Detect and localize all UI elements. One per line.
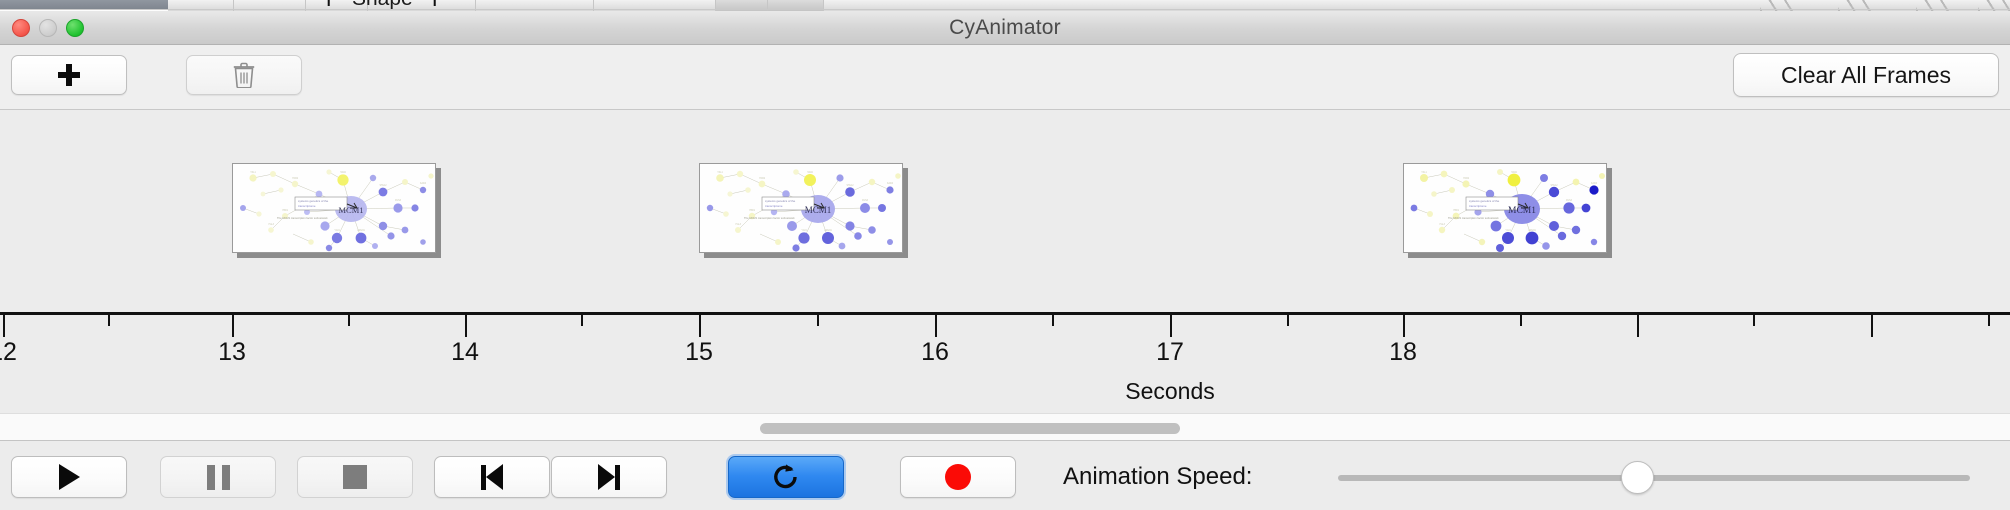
ruler-tick-major	[1170, 315, 1172, 337]
ruler-tick-major	[1637, 315, 1639, 337]
svg-text:MCM1: MCM1	[338, 205, 363, 215]
svg-text:The MCM1 transcription factor: The MCM1 transcription factor subnetwork	[1448, 216, 1499, 220]
svg-text:FUS3: FUS3	[395, 200, 402, 202]
svg-text:KAR4: KAR4	[887, 182, 894, 185]
pause-icon	[207, 465, 230, 490]
ruler-tick-major	[232, 315, 234, 337]
svg-text:STE12: STE12	[1550, 185, 1558, 187]
background-window-strip: T T Shape	[0, 0, 2010, 11]
ruler-tick-minor	[108, 315, 110, 326]
svg-text:transcriptome: transcriptome	[298, 204, 316, 208]
trash-icon	[233, 62, 255, 88]
record-button[interactable]	[900, 456, 1016, 498]
svg-text:systems genetics of the: systems genetics of the	[298, 199, 329, 203]
ruler-tick-major	[1403, 315, 1405, 337]
timeline-scrollbar-thumb[interactable]	[760, 423, 1180, 434]
svg-text:YJL9: YJL9	[334, 230, 340, 232]
svg-text:ARG81: ARG81	[1528, 229, 1536, 232]
svg-text:YBR1: YBR1	[749, 210, 756, 212]
stop-icon	[343, 465, 367, 489]
play-icon	[59, 464, 80, 490]
ruler-label: 16	[921, 338, 949, 367]
svg-text:KAR4: KAR4	[420, 182, 427, 185]
skip-start-icon	[481, 464, 503, 490]
svg-text:YGL3: YGL3	[735, 224, 742, 226]
svg-text:STE12: STE12	[379, 185, 387, 187]
svg-text:ARG81: ARG81	[357, 229, 365, 232]
loop-button[interactable]	[728, 456, 844, 498]
ruler-label: 14	[451, 338, 479, 367]
ruler-label: 12	[0, 338, 17, 367]
svg-text:KAR4: KAR4	[1591, 182, 1598, 185]
ruler-tick-major	[465, 315, 467, 337]
svg-text:SWI4: SWI4	[807, 172, 813, 174]
svg-text:transcriptome: transcriptome	[765, 204, 783, 208]
ruler-tick-major	[699, 315, 701, 337]
svg-text:The MCM1 transcription factor: The MCM1 transcription factor subnetwork	[277, 216, 328, 220]
timeline-axis-title: Seconds	[0, 378, 2010, 405]
svg-text:transcriptome: transcriptome	[1469, 204, 1487, 208]
network-graph-2: YKL1YDR2 SWI4STE12 FUS3KAR4 YBR1YGL3 ARG…	[700, 164, 903, 253]
svg-text:systems genetics of the: systems genetics of the	[1469, 199, 1500, 203]
svg-text:YDR2: YDR2	[292, 178, 299, 180]
svg-text:YBR1: YBR1	[1453, 210, 1460, 212]
svg-text:YBR1: YBR1	[282, 210, 289, 212]
svg-text:YKL1: YKL1	[717, 172, 723, 174]
svg-text:The MCM1 transcription factor: The MCM1 transcription factor subnetwork	[744, 216, 795, 220]
network-graph-1: YKL1YDR2 SWI4STE12 FUS3KAR4 YBR1YGL3 ARG…	[233, 164, 436, 253]
ruler-tick-major	[3, 315, 5, 337]
previous-frame-button[interactable]	[434, 456, 550, 498]
svg-text:SWI4: SWI4	[340, 172, 346, 174]
network-thumbnail-canvas: YKL1YDR2 SWI4STE12 FUS3KAR4 YBR1YGL3 ARG…	[232, 163, 436, 253]
ruler-tick-major	[1871, 315, 1873, 337]
ruler-label: 13	[218, 338, 246, 367]
timeline-scrollbar-track[interactable]	[0, 413, 2010, 441]
axis-title-text: Seconds	[1125, 378, 1215, 404]
ruler-tick-major	[935, 315, 937, 337]
svg-text:YGL3: YGL3	[1439, 224, 1446, 226]
svg-text:YKL1: YKL1	[250, 172, 256, 174]
background-window-dark-segment	[0, 0, 168, 9]
ruler-tick-minor	[1287, 315, 1289, 326]
slider-thumb[interactable]	[1621, 461, 1654, 494]
record-icon	[945, 464, 971, 490]
svg-text:FUS3: FUS3	[1566, 200, 1573, 202]
svg-text:YKL1: YKL1	[1421, 172, 1427, 174]
network-thumbnail-canvas: YKL1YDR2 SWI4STE12 FUS3KAR4 YBR1YGL3 ARG…	[1403, 163, 1607, 253]
pause-button[interactable]	[160, 456, 276, 498]
svg-text:YDR2: YDR2	[1463, 178, 1470, 180]
svg-text:STE12: STE12	[846, 185, 854, 187]
slider-track[interactable]	[1338, 475, 1970, 481]
skip-end-icon	[598, 464, 620, 490]
cyanimator-window: T T Shape CyAnimator Clear All	[0, 0, 2010, 510]
title-bar: CyAnimator	[0, 11, 2010, 45]
svg-text:YDR2: YDR2	[759, 178, 766, 180]
svg-text:YGL3: YGL3	[268, 224, 275, 226]
timeline-panel[interactable]: YKL1YDR2 SWI4STE12 FUS3KAR4 YBR1YGL3 ARG…	[0, 110, 2010, 413]
network-graph-3: YKL1YDR2 SWI4STE12 FUS3KAR4 YBR1YGL3 ARG…	[1404, 164, 1607, 253]
ruler-tick-minor	[348, 315, 350, 326]
ruler-tick-minor	[1753, 315, 1755, 326]
frame-toolbar: Clear All Frames	[0, 45, 2010, 110]
svg-text:FUS3: FUS3	[862, 200, 869, 202]
animation-speed-label: Animation Speed:	[1063, 456, 1252, 498]
plus-icon	[58, 64, 80, 86]
delete-frame-button[interactable]	[186, 55, 302, 95]
svg-text:MCM1: MCM1	[1508, 206, 1536, 216]
stop-button[interactable]	[297, 456, 413, 498]
svg-text:YJL9: YJL9	[801, 230, 807, 232]
svg-text:ARG81: ARG81	[824, 229, 832, 232]
frame-thumbnail-2[interactable]: YKL1YDR2 SWI4STE12 FUS3KAR4 YBR1YGL3 ARG…	[699, 163, 903, 253]
ruler-tick-minor	[1052, 315, 1054, 326]
background-window-divider	[0, 9, 2010, 10]
ruler-label: 15	[685, 338, 713, 367]
loop-icon	[772, 463, 800, 491]
ruler-tick-minor	[1520, 315, 1522, 326]
ruler-tick-minor	[1988, 315, 1990, 326]
frame-thumbnail-1[interactable]: YKL1YDR2 SWI4STE12 FUS3KAR4 YBR1YGL3 ARG…	[232, 163, 436, 253]
svg-text:systems genetics of the: systems genetics of the	[765, 199, 796, 203]
frame-thumbnail-3[interactable]: YKL1YDR2 SWI4STE12 FUS3KAR4 YBR1YGL3 ARG…	[1403, 163, 1607, 253]
animation-speed-slider[interactable]	[1338, 475, 1970, 481]
timeline-ruler-baseline	[0, 312, 2010, 315]
window-title: CyAnimator	[0, 11, 2010, 45]
svg-text:YJL9: YJL9	[1505, 230, 1511, 232]
clear-all-frames-button[interactable]: Clear All Frames	[1733, 53, 1999, 97]
svg-text:MCM1: MCM1	[805, 205, 832, 215]
ruler-label: 17	[1156, 338, 1184, 367]
ruler-label: 18	[1389, 338, 1417, 367]
ruler-tick-minor	[581, 315, 583, 326]
add-frame-button[interactable]	[11, 55, 127, 95]
playback-control-bar: Animation Speed:	[0, 442, 2010, 510]
network-thumbnail-canvas: YKL1YDR2 SWI4STE12 FUS3KAR4 YBR1YGL3 ARG…	[699, 163, 903, 253]
svg-text:SWI4: SWI4	[1511, 172, 1517, 174]
next-frame-button[interactable]	[551, 456, 667, 498]
ruler-tick-minor	[817, 315, 819, 326]
play-button[interactable]	[11, 456, 127, 498]
